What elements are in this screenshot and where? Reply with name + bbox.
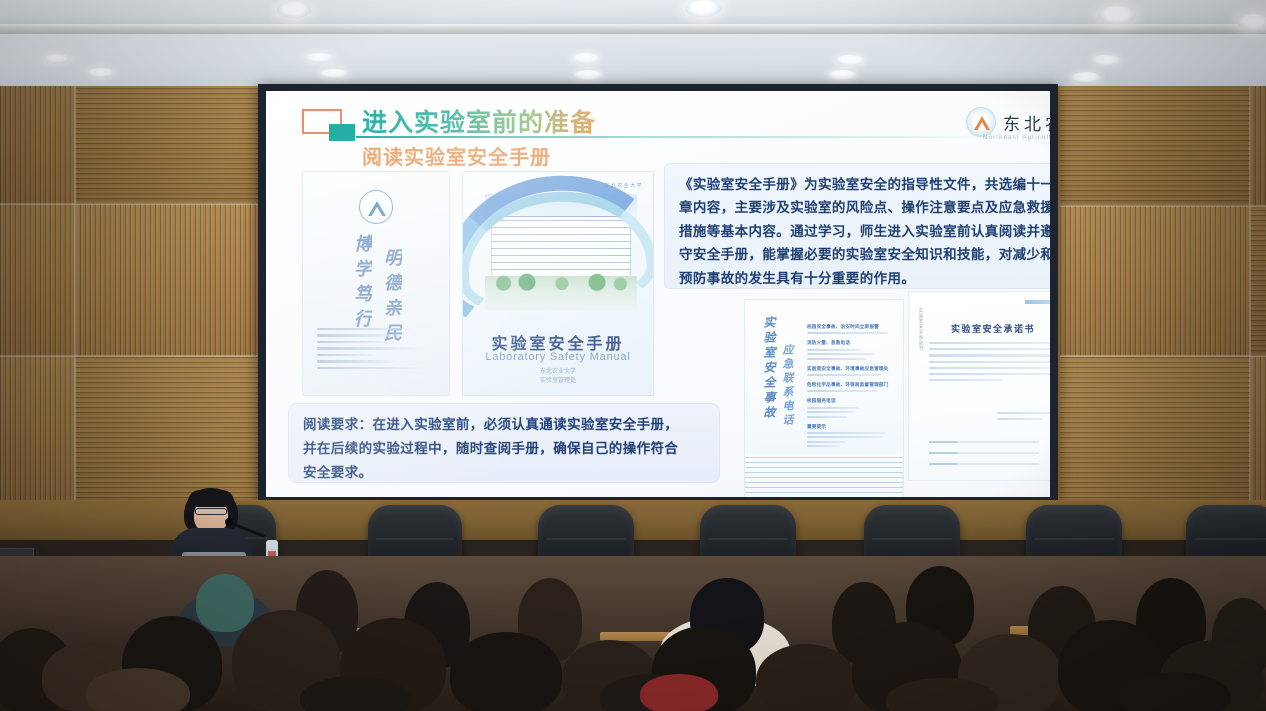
manual-front-cover: 东北农业大学 实验室安全手册 Laboratory Safety Manual … [462,171,654,396]
ceiling-downlight [320,69,348,78]
ceiling-upper-plane [0,0,1266,26]
emergency-section-heading: 校园安全事故、治安时间立即报警 [807,324,895,330]
ceiling-downlight [572,53,600,63]
emergency-doc-sections: 校园安全事故、治安时间立即报警 消防火警、急救电话 实验室安全事故、环境事故应急… [807,318,895,447]
slide-subtitle: 阅读实验室安全手册 [362,141,551,170]
ceiling-downlight [1092,55,1120,65]
university-logo: 东北农业大 [966,107,1050,137]
presenter-fringe [188,490,234,507]
emergency-contact-document: 实验室安全事故 应急联系电话 校园安全事故、治安时间立即报警 消防火警、急救电话… [744,299,904,497]
student-head [86,668,190,711]
student-head [450,632,562,711]
requirement-line: 安全要求。 [303,461,705,485]
emergency-section-heading: 危险化学品事故、环保局监督管理部门 [807,382,895,388]
back-cover-contact-lines [317,328,435,374]
body-line: 预防事故的发生具有十分重要的作用。 [679,267,1050,290]
body-line: 《实验室安全手册》为实验室安全的指导性文件，共选编十一 [679,173,1050,196]
cover-org-line2: 实验室管理处 [463,377,653,386]
audience-area [0,556,1266,711]
back-cover-emblem-icon [359,190,393,224]
ceiling-downlight [828,70,856,80]
pledge-header-tab [1025,300,1050,304]
manual-back-cover: 博学笃行 明德亲民 [302,171,450,396]
pledge-form-fields [929,432,1039,465]
university-emblem-icon [966,107,996,137]
ceiling-downlight [1072,72,1100,82]
decor-filled-square-icon [329,124,355,141]
ceiling-downlight [685,0,721,17]
pledge-body-lines [929,338,1050,381]
ceiling-downlight [88,68,114,77]
projection-screen: 进入实验室前的准备 阅读实验室安全手册 东北农业大 Northeast Agri… [258,84,1058,504]
emergency-doc-title: 实验室安全事故 [761,316,778,421]
student-head [196,574,254,632]
ceiling-downlight [836,55,864,65]
slide-title: 进入实验室前的准备 [362,103,596,139]
body-line: 措施等基本内容。通过学习，师生进入实验室前认真阅读并遵 [679,220,1050,243]
cover-swoosh-outer [462,171,654,338]
student-head-cap [640,674,718,711]
ceiling-downlight [305,53,333,62]
emergency-section-heading: 重要提示 [807,424,895,430]
student-head [756,644,856,711]
screen-surface: 进入实验室前的准备 阅读实验室安全手册 东北农业大 Northeast Agri… [266,91,1050,497]
presenter-glasses [195,508,227,515]
presentation-slide: 进入实验室前的准备 阅读实验室安全手册 东北农业大 Northeast Agri… [266,91,1050,497]
safety-pledge-document: 实验室安全承诺书 实验室安全承诺书 [908,291,1050,481]
body-line: 章内容，主要涉及实验室的风险点、操作注意要点及应急救援 [679,196,1050,219]
university-name-cn: 东北农业大 [1003,110,1050,135]
pledge-signature-block [997,408,1050,420]
ceiling-downlight [1098,6,1136,24]
microphone-head-icon [225,518,233,526]
emergency-doc-campus-photo [745,454,904,497]
requirement-line: 阅读要求：在进入实验室前，必须认真通读实验室安全手册， [303,413,705,437]
ceiling-downlight [1238,14,1266,30]
emergency-section-heading: 校园服务电话 [807,398,895,404]
cover-org-line1: 东北农业大学 [463,368,653,377]
emergency-section-heading: 消防火警、急救电话 [807,340,895,346]
cover-organization: 东北农业大学 实验室管理处 [463,368,653,386]
ceiling-downlight [44,54,70,63]
emergency-doc-subtitle: 应急联系电话 [779,344,795,428]
ceiling-downlight [574,70,602,80]
cover-corner-logo: 东北农业大学 [605,182,643,189]
emergency-section-heading: 实验室安全事故、环境事故应急管理处 [807,366,895,372]
pledge-title: 实验室安全承诺书 [909,322,1050,335]
cover-title-en: Laboratory Safety Manual [463,351,653,363]
reading-requirement-box: 阅读要求：在进入实验室前，必须认真通读实验室安全手册， 并在后续的实验过程中，随… [288,403,720,483]
motto-right: 博学笃行 [349,234,375,334]
university-name-en: Northeast Agricultural University [983,135,1050,141]
requirement-line: 并在后续的实验过程中，随时查阅手册，确保自己的操作符合 [303,437,705,461]
ceiling-downlight [277,2,311,18]
slide-body-panel: 《实验室安全手册》为实验室安全的指导性文件，共选编十一 章内容，主要涉及实验室的… [664,163,1050,289]
body-line: 守安全手册，能掌握必要的实验室安全知识和技能，对减少和 [679,243,1050,266]
lecture-hall-scene: 进入实验室前的准备 阅读实验室安全手册 东北农业大 Northeast Agri… [0,0,1266,711]
ceiling-lower-plane [0,34,1266,90]
